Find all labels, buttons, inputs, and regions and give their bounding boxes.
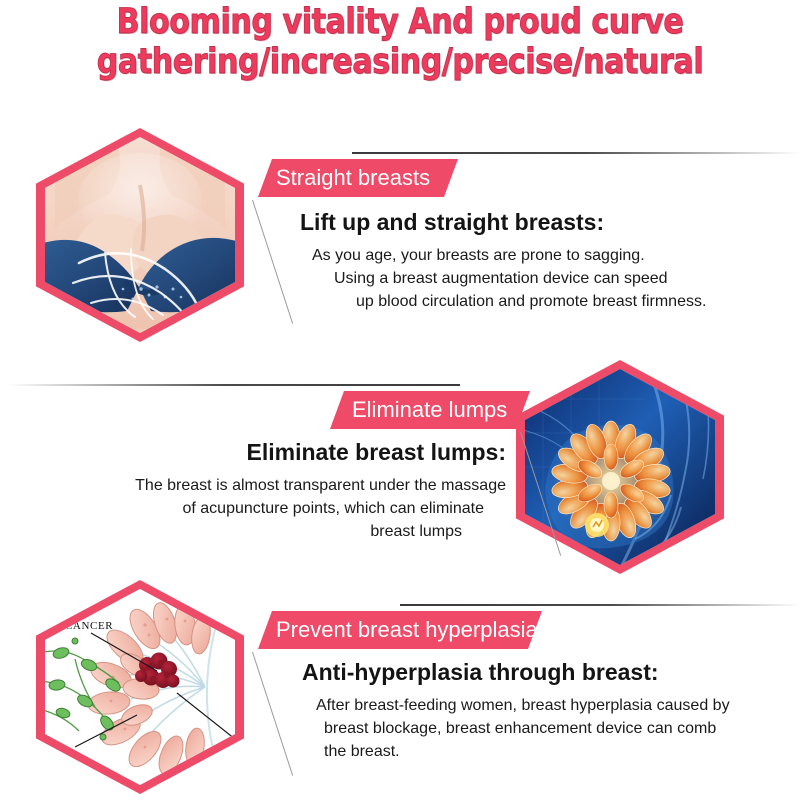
badge-eliminate-lumps: Eliminate lumps bbox=[330, 391, 530, 429]
connector-line bbox=[252, 652, 293, 776]
benefit-section-prevent-hyperplasia: CANCER Prevent breast hyperplasia Anti-h… bbox=[0, 572, 800, 802]
hexagon-frame bbox=[516, 360, 724, 574]
section-subhead: Eliminate breast lumps: bbox=[246, 438, 506, 466]
connector-line bbox=[252, 200, 293, 324]
section-body: After breast-feeding women, breast hyper… bbox=[316, 694, 786, 763]
hexagon-frame bbox=[36, 128, 244, 342]
benefit-section-eliminate-lumps: Eliminate lumps Eliminate breast lumps: … bbox=[0, 352, 800, 582]
badge-straight-breasts: Straight breasts bbox=[258, 159, 458, 197]
badge-label: Straight breasts bbox=[258, 166, 430, 190]
body-line: the breast. bbox=[316, 740, 786, 763]
benefit-section-straight-breasts: Straight breasts Lift up and straight br… bbox=[0, 120, 800, 350]
hexagon-image-straight-breasts bbox=[45, 137, 235, 333]
section-subhead: Anti-hyperplasia through breast: bbox=[302, 658, 659, 686]
cancer-label: CANCER bbox=[65, 620, 113, 632]
headline-line-2: gathering/increasing/precise/natural bbox=[56, 42, 744, 82]
badge-label: Eliminate lumps bbox=[330, 398, 507, 422]
section-body: The breast is almost transparent under t… bbox=[40, 474, 506, 543]
body-line: of acupuncture points, which can elimina… bbox=[40, 497, 506, 520]
badge-prevent-hyperplasia: Prevent breast hyperplasia bbox=[258, 611, 542, 649]
body-line: After breast-feeding women, breast hyper… bbox=[316, 694, 786, 717]
body-line: The breast is almost transparent under t… bbox=[40, 474, 506, 497]
body-line: Using a breast augmentation device can s… bbox=[312, 267, 782, 290]
page-header: Blooming vitality And proud curve gather… bbox=[0, 0, 800, 100]
section-divider bbox=[8, 384, 460, 386]
hexagon-frame: CANCER bbox=[36, 580, 244, 794]
body-line: up blood circulation and promote breast … bbox=[312, 290, 782, 313]
hexagon-image-prevent-hyperplasia: CANCER bbox=[45, 589, 235, 785]
woman-in-blue-bra-photo bbox=[45, 137, 235, 333]
body-line: breast lumps bbox=[40, 520, 506, 543]
body-line: breast blockage, breast enhancement devi… bbox=[316, 717, 786, 740]
section-subhead: Lift up and straight breasts: bbox=[300, 208, 604, 236]
body-line: As you age, your breasts are prone to sa… bbox=[312, 244, 782, 267]
section-divider bbox=[400, 604, 800, 606]
section-divider bbox=[352, 152, 800, 154]
section-body: As you age, your breasts are prone to sa… bbox=[312, 244, 782, 313]
breast-cancer-anatomy-diagram: CANCER bbox=[45, 589, 235, 785]
badge-label: Prevent breast hyperplasia bbox=[258, 618, 538, 642]
headline-line-1: Blooming vitality And proud curve bbox=[56, 2, 744, 42]
